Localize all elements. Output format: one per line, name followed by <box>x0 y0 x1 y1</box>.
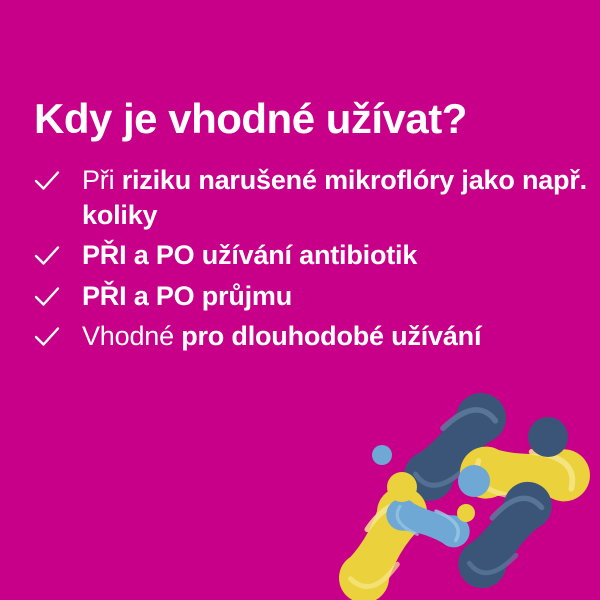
list-item-label: PŘI a PO průjmu <box>82 279 590 314</box>
list-item: Vhodné pro dlouhodobé užívání <box>30 319 590 354</box>
page-title: Kdy je vhodné užívat? <box>34 96 467 141</box>
list-item: PŘI a PO užívání antibiotik <box>30 238 590 273</box>
bacteria-circle-light-blue <box>458 465 490 497</box>
list-item: PŘI a PO průjmu <box>30 279 590 314</box>
bacteria-dumbbell-navy <box>449 472 562 598</box>
check-icon <box>30 163 82 192</box>
check-icon <box>30 238 82 267</box>
bacteria-dumbbell-yellow <box>330 478 436 600</box>
check-icon <box>30 319 82 348</box>
list-item-emphasis: pro dlouhodobé užívání <box>181 321 481 351</box>
list-item-emphasis: riziku narušené mikroflóry jako např. ko… <box>82 165 587 230</box>
bacteria-circle-navy <box>528 417 568 457</box>
bacteria-dumbbell-yellow <box>459 446 591 503</box>
list-item-emphasis: PŘI a PO průjmu <box>82 281 292 311</box>
list-item-label: Při riziku narušené mikroflóry jako např… <box>82 163 590 232</box>
bacteria-dumbbell-light-blue <box>382 494 474 551</box>
bacteria-dumbbell-navy <box>394 383 517 512</box>
list-item-label: PŘI a PO užívání antibiotik <box>82 238 590 273</box>
list-item-emphasis: PŘI a PO užívání antibiotik <box>82 240 417 270</box>
bacteria-circle-yellow <box>387 472 417 502</box>
benefit-list: Při riziku narušené mikroflóry jako např… <box>30 163 590 360</box>
check-icon <box>30 279 82 308</box>
bacteria-circle-light-blue <box>372 445 392 465</box>
list-item: Při riziku narušené mikroflóry jako např… <box>30 163 590 232</box>
list-item-label: Vhodné pro dlouhodobé užívání <box>82 319 590 354</box>
promo-card: Kdy je vhodné užívat? Při riziku narušen… <box>0 0 600 600</box>
bacteria-circle-yellow <box>457 504 475 522</box>
